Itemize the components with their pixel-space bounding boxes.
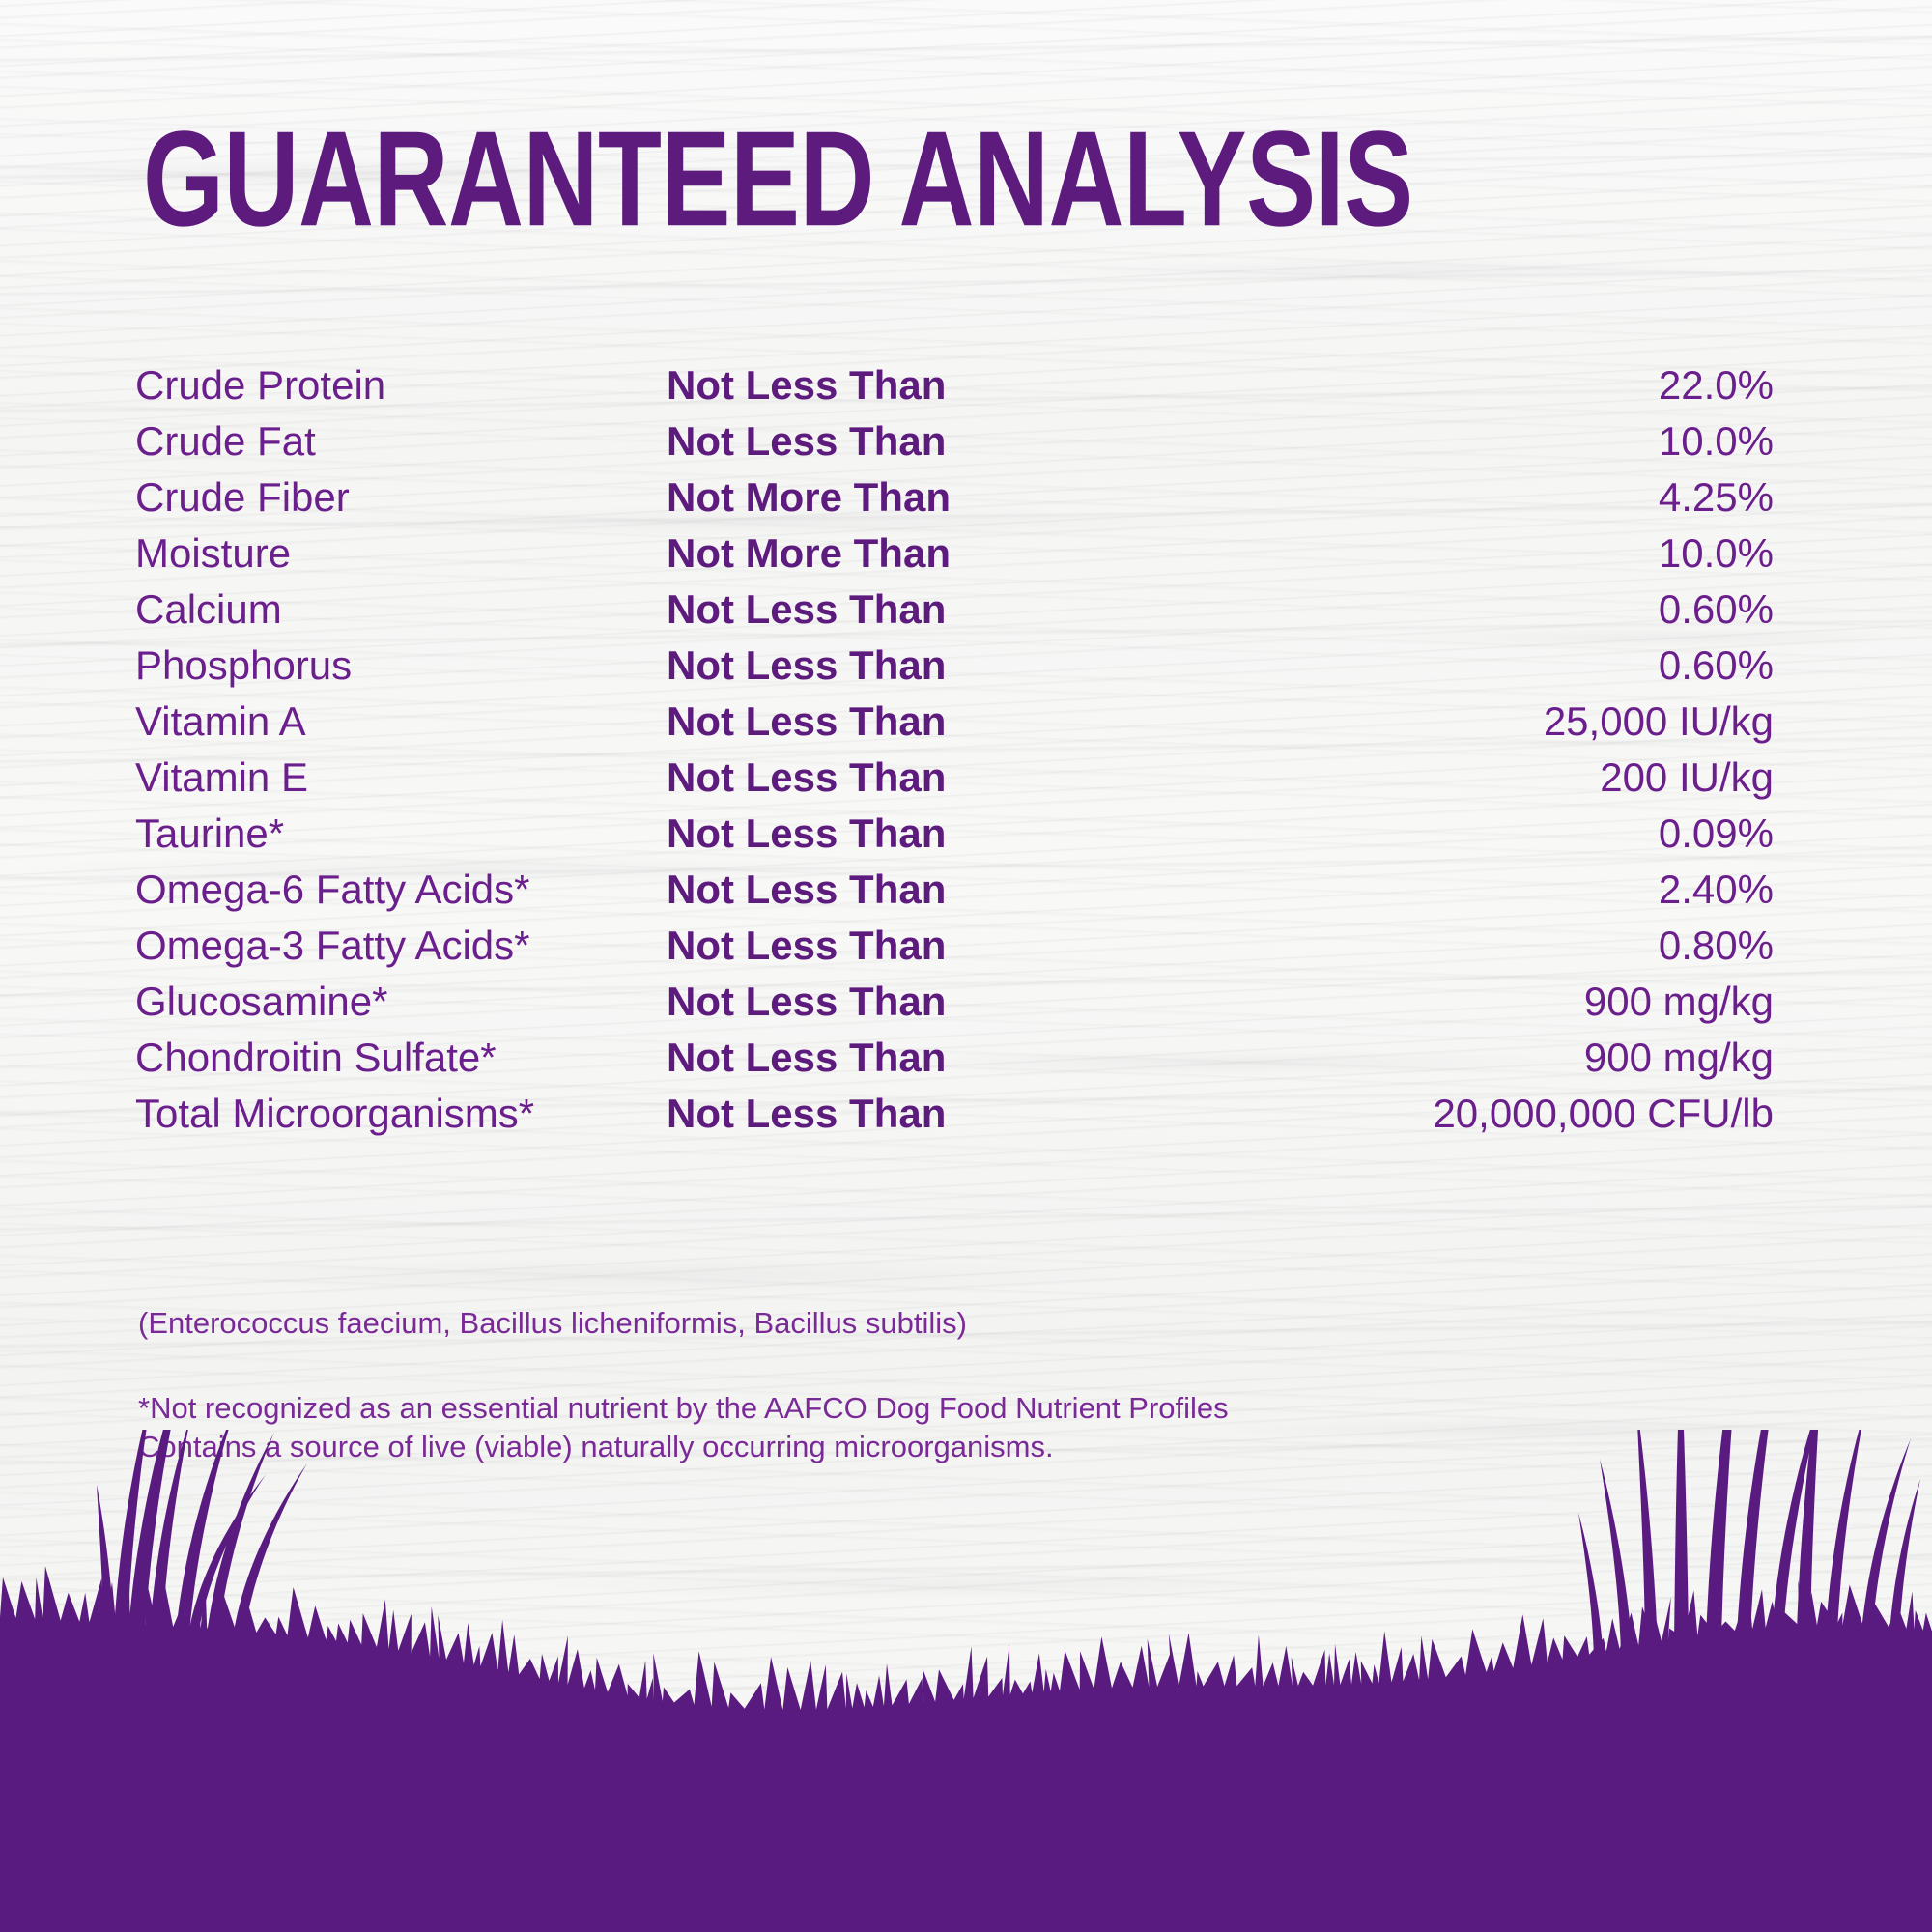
- qualifier-label: Not Less Than: [667, 642, 1063, 689]
- qualifier-label: Not Less Than: [667, 1035, 1063, 1081]
- table-row: Crude FiberNot More Than4.25%: [135, 474, 1797, 530]
- table-row: Crude ProteinNot Less Than22.0%: [135, 362, 1797, 418]
- table-row: Omega-3 Fatty Acids*Not Less Than0.80%: [135, 923, 1797, 979]
- page-title: GUARANTEED ANALYSIS: [143, 111, 1824, 246]
- nutrient-value: 900 mg/kg: [1063, 979, 1797, 1025]
- nutrient-label: Total Microorganisms*: [135, 1091, 667, 1137]
- qualifier-label: Not More Than: [667, 474, 1063, 521]
- grass-blade: [1706, 1430, 1743, 1638]
- table-row: Chondroitin Sulfate*Not Less Than900 mg/…: [135, 1035, 1797, 1091]
- nutrient-label: Glucosamine*: [135, 979, 667, 1025]
- qualifier-label: Not Less Than: [667, 1091, 1063, 1137]
- nutrient-value: 200 IU/kg: [1063, 754, 1797, 801]
- nutrient-value: 900 mg/kg: [1063, 1035, 1797, 1081]
- nutrient-label: Omega-6 Fatty Acids*: [135, 867, 667, 913]
- qualifier-label: Not Less Than: [667, 810, 1063, 857]
- nutrient-value: 10.0%: [1063, 530, 1797, 577]
- grass-blade: [1861, 1438, 1911, 1632]
- grass-blade: [1797, 1430, 1824, 1632]
- qualifier-label: Not Less Than: [667, 418, 1063, 465]
- nutrient-label: Moisture: [135, 530, 667, 577]
- qualifier-label: Not Less Than: [667, 754, 1063, 801]
- qualifier-label: Not Less Than: [667, 867, 1063, 913]
- qualifier-label: Not Less Than: [667, 586, 1063, 633]
- table-row: Glucosamine*Not Less Than900 mg/kg: [135, 979, 1797, 1035]
- table-row: Omega-6 Fatty Acids*Not Less Than2.40%: [135, 867, 1797, 923]
- nutrient-label: Crude Fiber: [135, 474, 667, 521]
- nutrient-value: 4.25%: [1063, 474, 1797, 521]
- nutrient-value: 10.0%: [1063, 418, 1797, 465]
- table-row: PhosphorusNot Less Than0.60%: [135, 642, 1797, 698]
- guaranteed-analysis-panel: GUARANTEED ANALYSIS Crude ProteinNot Les…: [0, 0, 1932, 1932]
- table-row: MoistureNot More Than10.0%: [135, 530, 1797, 586]
- nutrient-label: Taurine*: [135, 810, 667, 857]
- footnote-aafco: *Not recognized as an essential nutrient…: [138, 1389, 1229, 1428]
- grass-blade: [1636, 1430, 1658, 1648]
- nutrient-label: Chondroitin Sulfate*: [135, 1035, 667, 1081]
- table-row: CalciumNot Less Than0.60%: [135, 586, 1797, 642]
- qualifier-label: Not Less Than: [667, 979, 1063, 1025]
- table-row: Vitamin ENot Less Than200 IU/kg: [135, 754, 1797, 810]
- table-row: Vitamin ANot Less Than25,000 IU/kg: [135, 698, 1797, 754]
- nutrient-value: 22.0%: [1063, 362, 1797, 409]
- nutrient-value: 0.80%: [1063, 923, 1797, 969]
- nutrient-value: 20,000,000 CFU/lb: [1063, 1091, 1797, 1137]
- grass-silhouette-icon: [0, 1430, 1932, 1932]
- qualifier-label: Not More Than: [667, 530, 1063, 577]
- nutrient-value: 0.60%: [1063, 642, 1797, 689]
- table-row: Taurine*Not Less Than0.09%: [135, 810, 1797, 867]
- nutrient-label: Vitamin E: [135, 754, 667, 801]
- nutrient-label: Crude Protein: [135, 362, 667, 409]
- qualifier-label: Not Less Than: [667, 698, 1063, 745]
- nutrient-label: Omega-3 Fatty Acids*: [135, 923, 667, 969]
- grass-blade: [1826, 1430, 1866, 1631]
- qualifier-label: Not Less Than: [667, 923, 1063, 969]
- qualifier-label: Not Less Than: [667, 362, 1063, 409]
- nutrient-value: 0.09%: [1063, 810, 1797, 857]
- table-row: Total Microorganisms*Not Less Than20,000…: [135, 1091, 1797, 1147]
- nutrient-value: 2.40%: [1063, 867, 1797, 913]
- nutrient-label: Vitamin A: [135, 698, 667, 745]
- guaranteed-analysis-table: Crude ProteinNot Less Than22.0%Crude Fat…: [135, 362, 1797, 1147]
- organism-list-note: (Enterococcus faecium, Bacillus lichenif…: [138, 1306, 967, 1341]
- grass-mound: [0, 1566, 1932, 1932]
- nutrient-value: 25,000 IU/kg: [1063, 698, 1797, 745]
- table-row: Crude FatNot Less Than10.0%: [135, 418, 1797, 474]
- grass-blade: [1600, 1459, 1633, 1652]
- grass-blade: [1889, 1479, 1920, 1634]
- nutrient-label: Crude Fat: [135, 418, 667, 465]
- grass-blade: [1578, 1513, 1604, 1658]
- nutrient-value: 0.60%: [1063, 586, 1797, 633]
- nutrient-label: Calcium: [135, 586, 667, 633]
- grass-blade: [1674, 1430, 1689, 1643]
- nutrient-label: Phosphorus: [135, 642, 667, 689]
